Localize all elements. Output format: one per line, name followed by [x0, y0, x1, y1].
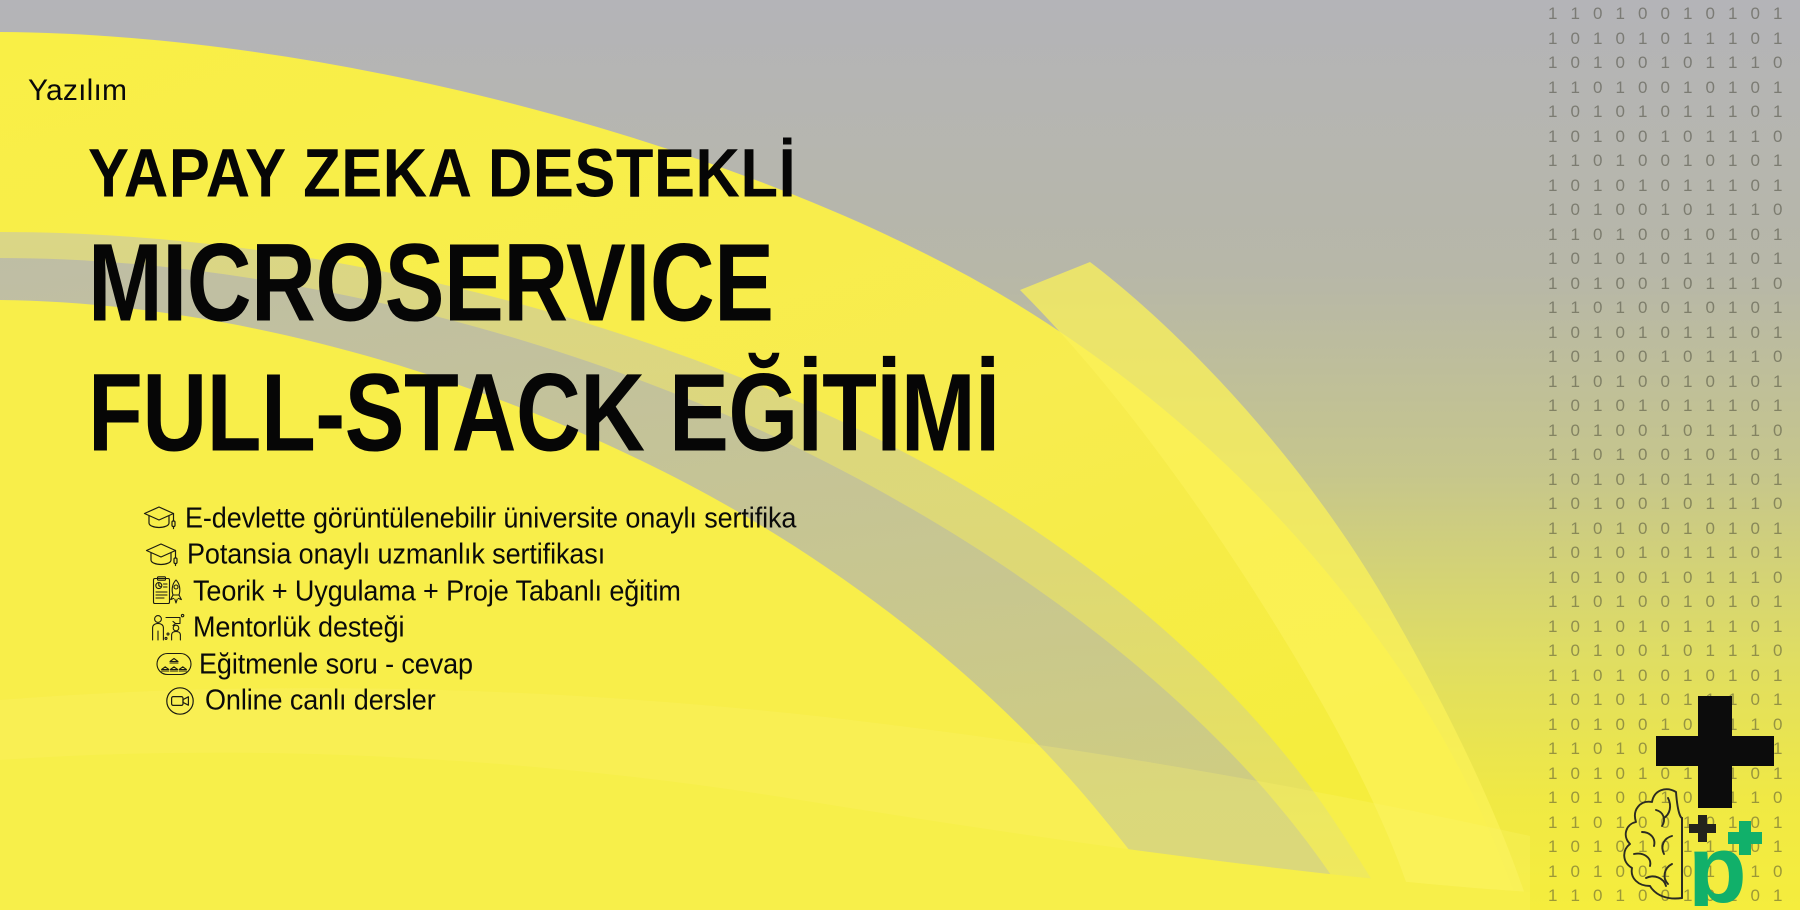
feature-label: Potansia onaylı uzmanlık sertifikası	[187, 538, 605, 571]
promo-banner: 1101001010110101011101101001011101101001…	[0, 0, 1800, 910]
category-label: Yazılım	[28, 74, 127, 108]
brain-icon	[1624, 789, 1682, 898]
feature-item: E-devlette görüntülenebilir üniversite o…	[141, 500, 796, 537]
feature-list: E-devlette görüntülenebilir üniversite o…	[141, 500, 796, 719]
logo-letter-p: p	[1688, 816, 1747, 906]
graduation-cap-icon	[143, 539, 181, 571]
classroom-icon	[155, 648, 193, 680]
feature-item: Potansia onaylı uzmanlık sertifikası	[143, 537, 796, 574]
feature-item: Eğitmenle soru - cevap	[155, 646, 796, 683]
feature-label: E-devlette görüntülenebilir üniversite o…	[185, 502, 796, 535]
feature-label: Eğitmenle soru - cevap	[199, 648, 473, 681]
feature-item: Mentorlük desteği	[149, 610, 796, 647]
feature-item: Teorik + Uygulama + Proje Tabanlı eğitim	[149, 573, 796, 610]
brand-logo: p	[1616, 686, 1786, 906]
feature-label: Online canlı dersler	[205, 684, 436, 717]
headline-line-1: YAPAY ZEKA DESTEKLİ	[88, 141, 796, 208]
headline-line-3: FULL-STACK EĞİTİMİ	[88, 359, 1000, 467]
feature-item: Online canlı dersler	[161, 683, 796, 720]
feature-label: Teorik + Uygulama + Proje Tabanlı eğitim	[193, 575, 681, 608]
headline-line-2: MICROSERVICE	[88, 229, 773, 337]
video-camera-icon	[161, 685, 199, 717]
clipboard-rocket-icon	[149, 575, 187, 607]
feature-label: Mentorlük desteği	[193, 611, 404, 644]
mentorship-icon	[149, 612, 187, 644]
graduation-cap-icon	[141, 502, 179, 534]
